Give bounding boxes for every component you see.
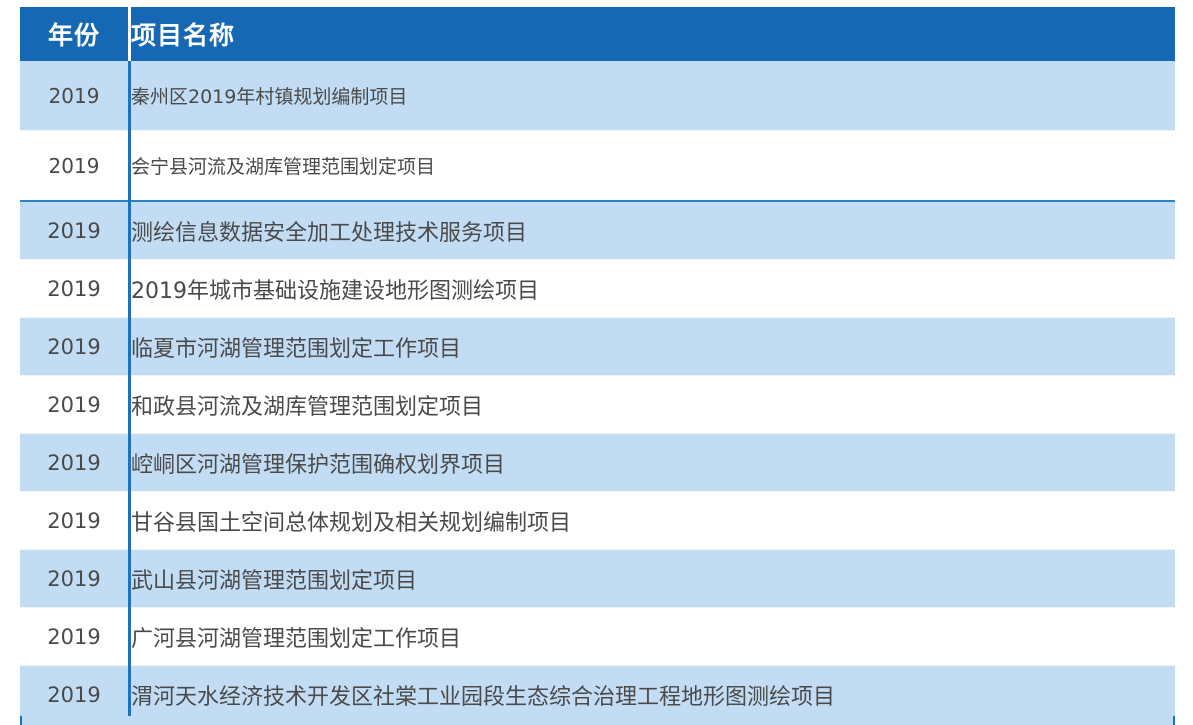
table-row: 2019 武山县河湖管理范围划定项目 <box>20 550 1175 608</box>
cell-year: 2019 <box>20 434 130 492</box>
cell-year: 2019 <box>20 608 130 666</box>
cell-project-name: 秦州区2019年村镇规划编制项目 <box>130 61 1176 131</box>
cell-year: 2019 <box>20 131 130 202</box>
cell-project-name: 测绘信息数据安全加工处理技术服务项目 <box>130 201 1176 260</box>
table-header-row: 年份 项目名称 <box>20 7 1175 61</box>
cell-project-name: 崆峒区河湖管理保护范围确权划界项目 <box>130 434 1176 492</box>
cell-year: 2019 <box>20 318 130 376</box>
column-header-project-name: 项目名称 <box>130 7 1176 61</box>
cell-project-name: 广河县河湖管理范围划定工作项目 <box>130 608 1176 666</box>
table-row: 2019 2019年城市基础设施建设地形图测绘项目 <box>20 260 1175 318</box>
cell-project-name: 武山县河湖管理范围划定项目 <box>130 550 1176 608</box>
table-row: 2019 甘谷县国土空间总体规划及相关规划编制项目 <box>20 492 1175 550</box>
cell-project-name: 甘谷县国土空间总体规划及相关规划编制项目 <box>130 492 1176 550</box>
cell-year: 2019 <box>20 260 130 318</box>
table-header: 年份 项目名称 <box>20 7 1175 61</box>
cell-project-name: 和政县河流及湖库管理范围划定项目 <box>130 376 1176 434</box>
cell-project-name: 会宁县河流及湖库管理范围划定项目 <box>130 131 1176 202</box>
table-row: 2019 渭河天水经济技术开发区社棠工业园段生态综合治理工程地形图测绘项目 <box>20 666 1175 724</box>
cell-project-name: 2019年城市基础设施建设地形图测绘项目 <box>130 260 1176 318</box>
project-table: 年份 项目名称 2019 秦州区2019年村镇规划编制项目 2019 会宁县河流… <box>20 7 1175 724</box>
project-table-container: 年份 项目名称 2019 秦州区2019年村镇规划编制项目 2019 会宁县河流… <box>0 0 1193 725</box>
cell-project-name: 渭河天水经济技术开发区社棠工业园段生态综合治理工程地形图测绘项目 <box>130 666 1176 724</box>
table-row: 2019 测绘信息数据安全加工处理技术服务项目 <box>20 201 1175 260</box>
table-row: 2019 会宁县河流及湖库管理范围划定项目 <box>20 131 1175 202</box>
table-row: 2019 崆峒区河湖管理保护范围确权划界项目 <box>20 434 1175 492</box>
cell-project-name: 临夏市河湖管理范围划定工作项目 <box>130 318 1176 376</box>
column-header-year: 年份 <box>20 7 130 61</box>
table-row: 2019 秦州区2019年村镇规划编制项目 <box>20 61 1175 131</box>
table-bottom-edge <box>20 716 1175 725</box>
table-row: 2019 和政县河流及湖库管理范围划定项目 <box>20 376 1175 434</box>
cell-year: 2019 <box>20 550 130 608</box>
cell-year: 2019 <box>20 201 130 260</box>
table-row: 2019 广河县河湖管理范围划定工作项目 <box>20 608 1175 666</box>
cell-year: 2019 <box>20 61 130 131</box>
cell-year: 2019 <box>20 492 130 550</box>
table-body: 2019 秦州区2019年村镇规划编制项目 2019 会宁县河流及湖库管理范围划… <box>20 61 1175 724</box>
cell-year: 2019 <box>20 376 130 434</box>
cell-year: 2019 <box>20 666 130 724</box>
table-row: 2019 临夏市河湖管理范围划定工作项目 <box>20 318 1175 376</box>
